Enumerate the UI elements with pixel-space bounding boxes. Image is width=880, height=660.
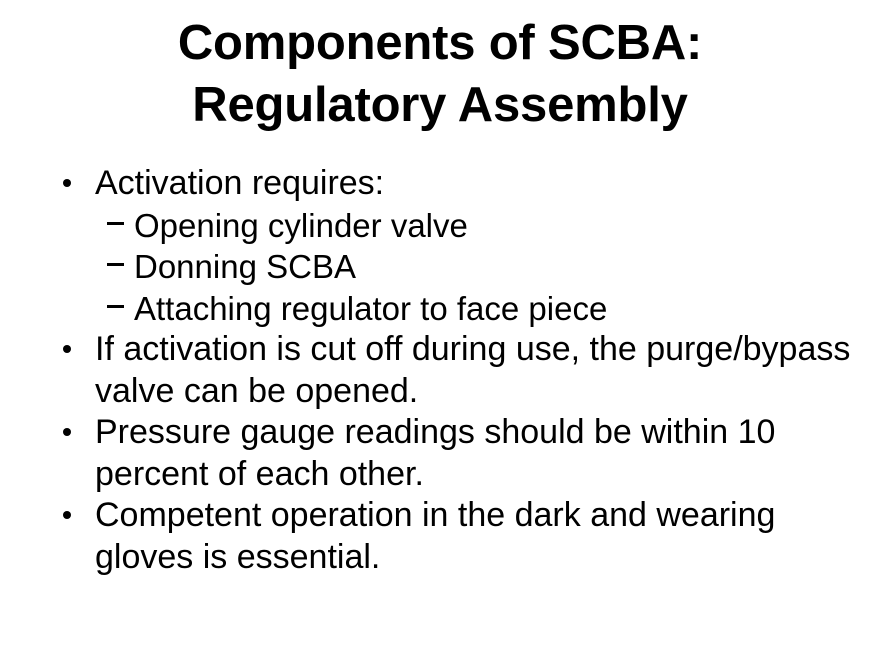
round-bullet-icon — [63, 495, 85, 537]
list-item-label: Attaching regulator to face piece — [134, 288, 856, 330]
list-item-label: Pressure gauge readings should be within… — [95, 412, 856, 495]
list-item-label: If activation is cut off during use, the… — [95, 329, 856, 412]
page-title-line-2: Regulatory Assembly — [0, 74, 880, 136]
round-bullet-icon — [63, 163, 85, 205]
page-title-line-1: Components of SCBA: — [0, 12, 880, 74]
list-item: Opening cylinder valve — [56, 205, 856, 247]
slide-canvas: Components of SCBA: Regulatory Assembly … — [0, 0, 880, 660]
list-item-label: Activation requires: — [95, 163, 856, 205]
list-item: Activation requires: — [56, 163, 856, 205]
list-item-label: Donning SCBA — [134, 246, 856, 288]
list-item: Pressure gauge readings should be within… — [56, 412, 856, 495]
list-item: Donning SCBA — [56, 246, 856, 288]
dash-bullet-icon — [107, 288, 133, 330]
list-item: Competent operation in the dark and wear… — [56, 495, 856, 578]
list-item: Attaching regulator to face piece — [56, 288, 856, 330]
dash-bullet-icon — [107, 205, 133, 247]
page-title: Components of SCBA: Regulatory Assembly — [0, 12, 880, 136]
list-item-label: Competent operation in the dark and wear… — [95, 495, 856, 578]
dash-bullet-icon — [107, 246, 133, 288]
round-bullet-icon — [63, 329, 85, 371]
list-item: If activation is cut off during use, the… — [56, 329, 856, 412]
round-bullet-icon — [63, 412, 85, 454]
slide-body: Activation requires: Opening cylinder va… — [56, 163, 856, 578]
list-item-label: Opening cylinder valve — [134, 205, 856, 247]
